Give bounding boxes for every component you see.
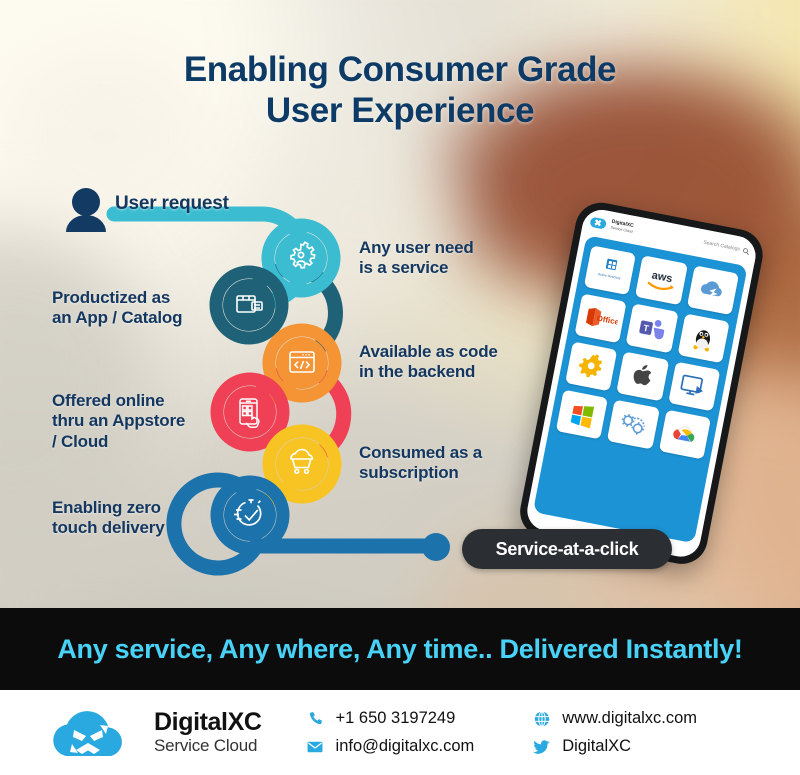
flow-label-code: Available as code in the backend: [359, 342, 534, 383]
contact-website[interactable]: www.digitalxc.com: [532, 709, 697, 728]
app-tile-azure-cloud[interactable]: [687, 265, 740, 315]
email-icon: [306, 738, 325, 755]
footer-brand: DigitalXC Service Cloud: [154, 709, 262, 756]
footer-contact-column-2: www.digitalxc.com DigitalXC: [532, 709, 697, 756]
contact-website-text: www.digitalxc.com: [562, 709, 697, 728]
twitter-icon: [532, 738, 551, 755]
app-grid: Active Directory aws Office T: [556, 245, 739, 459]
phone-icon: [306, 710, 325, 727]
svg-text:Office: Office: [596, 314, 620, 327]
footer-contact-column-1: +1 650 3197249 info@digitalxc.com: [306, 709, 475, 756]
contact-twitter-text: DigitalXC: [562, 737, 631, 756]
app-tile-devops[interactable]: [607, 400, 660, 450]
app-tile-aws[interactable]: aws: [635, 255, 688, 305]
ribbon-end-dot: [422, 533, 450, 561]
phone-search-bar[interactable]: Search Catalogs: [703, 239, 750, 255]
tagline-banner: Any service, Any where, Any time.. Deliv…: [0, 608, 800, 690]
flow-label-zerotouch: Enabling zero touch delivery: [52, 498, 217, 539]
app-tile-settings[interactable]: [565, 342, 618, 392]
svg-text:aws: aws: [651, 269, 674, 285]
app-tile-windows[interactable]: [556, 390, 609, 440]
flow-label-service: Any user need is a service: [359, 238, 529, 279]
footer-brand-sub: Service Cloud: [154, 736, 262, 756]
contact-email[interactable]: info@digitalxc.com: [306, 737, 475, 756]
digitalxc-logo-icon: ✖: [589, 214, 607, 230]
infographic-poster: Enabling Consumer Grade User Experience: [0, 0, 800, 775]
user-avatar-icon: [66, 188, 106, 232]
app-tile-monitor[interactable]: [668, 361, 721, 411]
app-tile-active-directory[interactable]: Active Directory: [584, 245, 637, 295]
flow-label-productized: Productized as an App / Catalog: [52, 288, 227, 329]
flow-node-subscription[interactable]: [269, 431, 335, 497]
digitalxc-cloud-logo: [44, 702, 140, 764]
footer: DigitalXC Service Cloud +1 650 3197249 i…: [0, 690, 800, 775]
contact-email-text: info@digitalxc.com: [336, 737, 475, 756]
contact-twitter[interactable]: DigitalXC: [532, 737, 697, 756]
app-tile-office[interactable]: Office: [574, 293, 627, 343]
contact-phone[interactable]: +1 650 3197249: [306, 709, 475, 728]
flow-label-appstore: Offered online thru an Appstore / Cloud: [52, 391, 232, 452]
app-tile-google-cloud[interactable]: [659, 410, 712, 460]
app-catalog-panel: Active Directory aws Office T: [533, 235, 748, 543]
flow-label-subscription: Consumed as a subscription: [359, 443, 529, 484]
footer-brand-name: DigitalXC: [154, 709, 262, 736]
app-tile-linux[interactable]: [677, 313, 730, 363]
app-tile-teams[interactable]: T: [626, 303, 679, 353]
svg-text:Active Directory: Active Directory: [597, 272, 621, 280]
flow-node-zerotouch[interactable]: [217, 482, 283, 548]
app-tile-apple[interactable]: [616, 352, 669, 402]
flow-label-user-request: User request: [115, 193, 229, 216]
globe-icon: [532, 710, 551, 727]
search-icon: [742, 247, 750, 255]
contact-phone-text: +1 650 3197249: [336, 709, 456, 728]
search-placeholder: Search Catalogs: [703, 240, 740, 253]
service-at-a-click-badge: Service-at-a-click: [462, 529, 672, 569]
tagline-text: Any service, Any where, Any time.. Deliv…: [57, 634, 742, 665]
phone-brand: DigitalXC Service Cloud: [610, 220, 634, 234]
